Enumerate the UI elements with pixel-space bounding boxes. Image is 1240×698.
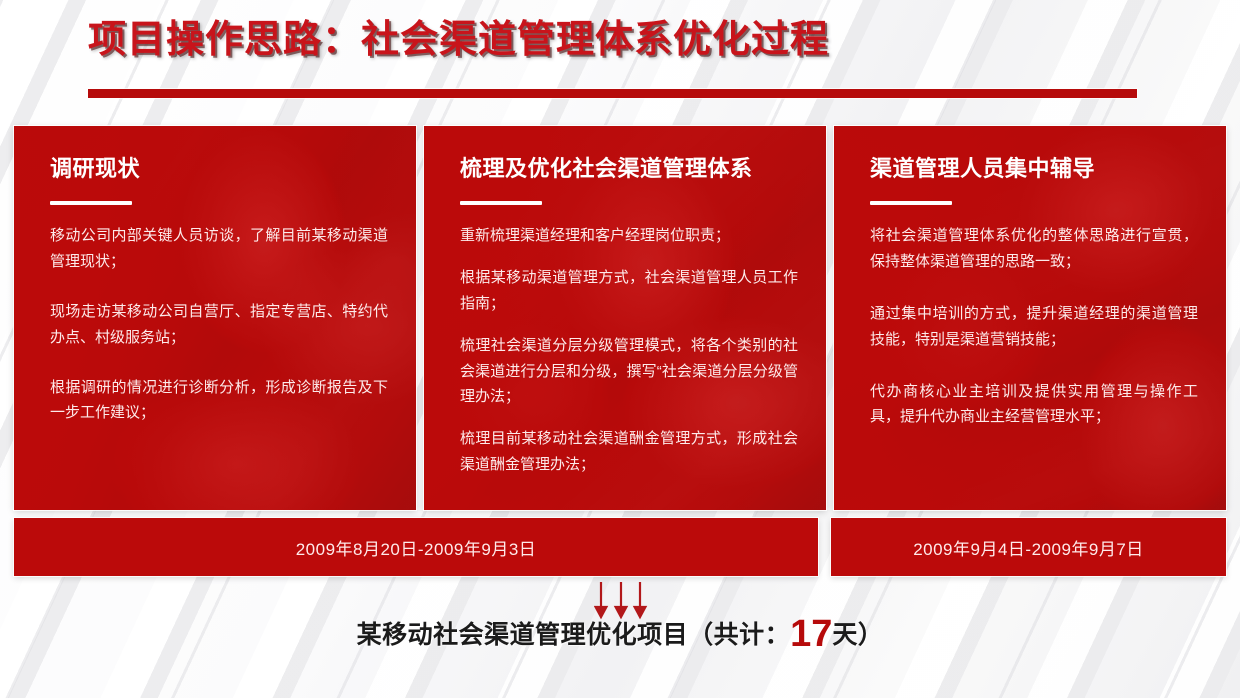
card-heading-divider [870,201,952,205]
card-body: 重新梳理渠道经理和客户经理岗位职责； 根据某移动渠道管理方式，社会渠道管理人员工… [460,223,798,477]
date-range-bar-2: 2009年9月4日-2009年9月7日 [831,518,1226,576]
card-paragraph: 通过集中培训的方式，提升渠道经理的渠道管理技能，特别是渠道营销技能； [870,301,1198,353]
phase-card-row: 调研现状 移动公司内部关键人员访谈，了解目前某移动渠道管理现状； 现场走访某移动… [14,126,1226,510]
footer-text-before: 某移动社会渠道管理优化项目（共计： [357,621,791,649]
footer-text-after: 天） [832,621,883,649]
card-paragraph: 梳理目前某移动社会渠道酬金管理方式，形成社会渠道酬金管理办法； [460,426,798,478]
card-heading: 调研现状 [50,156,388,182]
card-paragraph: 现场走访某移动公司自营厅、指定专营店、特约代办点、村级服务站； [50,299,388,351]
card-paragraph: 将社会渠道管理体系优化的整体思路进行宣贯，保持整体渠道管理的思路一致； [870,223,1198,275]
title-underline [88,89,1137,98]
phase-card-2[interactable]: 梳理及优化社会渠道管理体系 重新梳理渠道经理和客户经理岗位职责； 根据某移动渠道… [424,126,826,510]
slide-canvas: 项目操作思路：社会渠道管理体系优化过程 调研现状 移动公司内部关键人员访谈，了解… [0,0,1240,698]
phase-card-1[interactable]: 调研现状 移动公司内部关键人员访谈，了解目前某移动渠道管理现状； 现场走访某移动… [14,126,416,510]
card-heading: 渠道管理人员集中辅导 [870,156,1198,182]
card-heading-divider [50,201,132,205]
card-paragraph: 根据调研的情况进行诊断分析，形成诊断报告及下一步工作建议； [50,375,388,427]
footer-days-count: 17 [790,613,832,655]
card-heading-divider [460,201,542,205]
date-range-bar-1: 2009年8月20日-2009年9月3日 [14,518,818,576]
card-paragraph: 代办商核心业主培训及提供实用管理与操作工具，提升代办商业主经营管理水平； [870,379,1198,431]
card-paragraph: 根据某移动渠道管理方式，社会渠道管理人员工作指南； [460,265,798,317]
card-paragraph: 移动公司内部关键人员访谈，了解目前某移动渠道管理现状； [50,223,388,275]
date-range-label: 2009年9月4日-2009年9月7日 [913,535,1144,560]
page-title-text: 项目操作思路：社会渠道管理体系优化过程 [88,20,829,62]
card-heading: 梳理及优化社会渠道管理体系 [460,156,798,182]
card-paragraph: 梳理社会渠道分层分级管理模式，将各个类别的社会渠道进行分层和分级，撰写“社会渠道… [460,333,798,410]
phase-card-3[interactable]: 渠道管理人员集中辅导 将社会渠道管理体系优化的整体思路进行宣贯，保持整体渠道管理… [834,126,1226,510]
date-range-label: 2009年8月20日-2009年9月3日 [296,535,537,560]
footer-total: 某移动社会渠道管理优化项目（共计：17天） [0,613,1240,656]
card-paragraph: 重新梳理渠道经理和客户经理岗位职责； [460,223,798,249]
card-body: 移动公司内部关键人员访谈，了解目前某移动渠道管理现状； 现场走访某移动公司自营厅… [50,223,388,426]
page-title: 项目操作思路：社会渠道管理体系优化过程 [88,20,829,62]
card-body: 将社会渠道管理体系优化的整体思路进行宣贯，保持整体渠道管理的思路一致； 通过集中… [870,223,1198,430]
